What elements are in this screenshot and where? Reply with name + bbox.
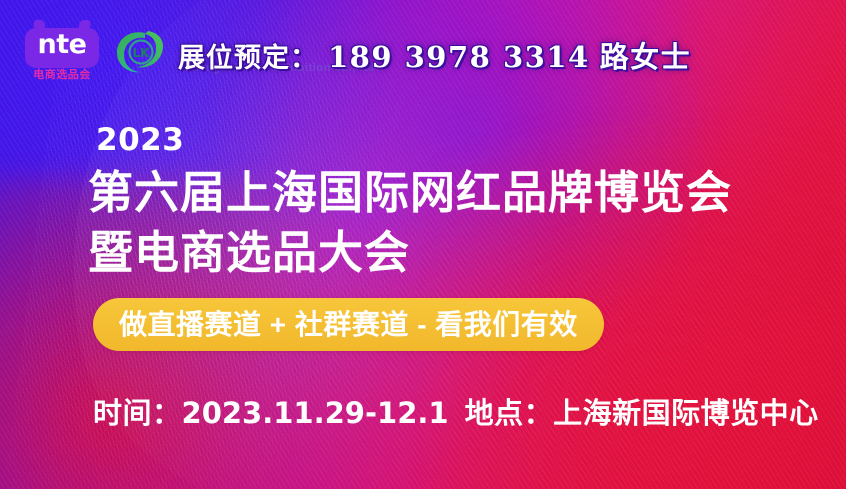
event-details-line: 时间：2023.11.29-12.1地点：上海新国际博览中心 <box>93 390 819 432</box>
logo-tagline: 电商选品会 <box>22 70 102 81</box>
slogan-pill: 做直播赛道 + 社群赛道 - 看我们有效 <box>93 298 604 351</box>
event-year: 2023 <box>96 122 184 158</box>
nte-brand-logo: nte 电商选品会 <box>22 24 102 86</box>
venue-label: 地点： <box>465 398 554 430</box>
lk-swirl-icon: LK <box>112 27 168 79</box>
event-title-line-1: 第六届上海国际网红品牌博览会 <box>88 168 732 218</box>
contact-phone: 189 3978 3314 <box>328 40 590 74</box>
header-bar: nte 电商选品会 LK <box>22 24 691 86</box>
svg-text:LK: LK <box>133 46 151 60</box>
booking-info: Shanghai leike exhibition co., ltd 展位预定：… <box>178 34 691 76</box>
slogan-text: 做直播赛道 + 社群赛道 - 看我们有效 <box>119 311 578 339</box>
contact-person: 路女士 <box>600 34 692 76</box>
event-poster: nte 电商选品会 LK <box>0 0 846 489</box>
venue-value: 上海新国际博览中心 <box>553 398 819 430</box>
booking-label: 展位预定： <box>178 36 318 75</box>
logo-wordmark: nte <box>22 31 102 58</box>
time-label: 时间： <box>93 398 182 430</box>
event-title-line-2: 暨电商选品大会 <box>88 228 410 278</box>
time-value: 2023.11.29-12.1 <box>182 396 449 430</box>
lk-partner-logo: LK <box>112 27 168 79</box>
